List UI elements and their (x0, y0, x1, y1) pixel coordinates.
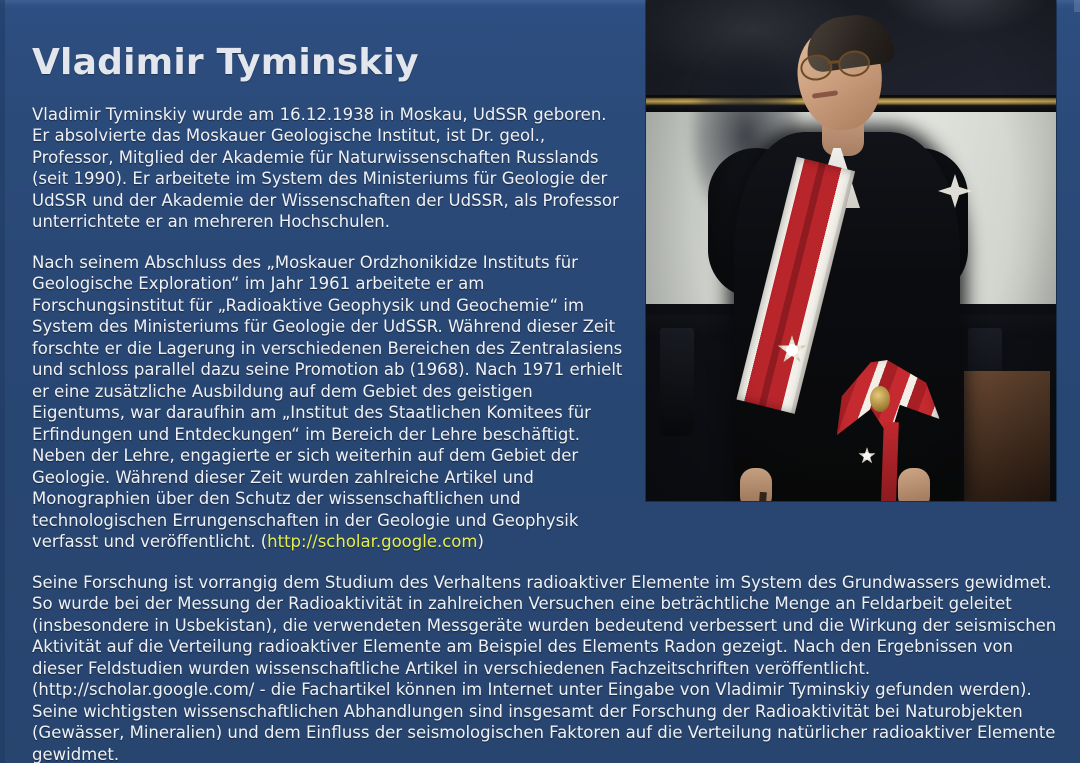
photo-wooden-object (964, 371, 1050, 501)
portrait-photo-image (646, 0, 1056, 501)
slide-page: Vladimir Tyminskiy Vladimir Tyminskiy wu… (0, 0, 1080, 763)
photo-hand-right (898, 468, 930, 501)
content-area: Vladimir Tyminskiy Vladimir Tyminskiy wu… (0, 0, 1080, 763)
photo-rosette-knot (870, 386, 890, 412)
photo-hand-left (740, 468, 772, 501)
scholar-google-link[interactable]: http://scholar.google.com (267, 532, 477, 551)
photo-mantel-corbel-left (660, 328, 694, 436)
paragraph-3: Seine Forschung ist vorrangig dem Studiu… (32, 572, 1058, 763)
photo-sash-tail (880, 422, 899, 501)
portrait-photo (646, 0, 1056, 501)
